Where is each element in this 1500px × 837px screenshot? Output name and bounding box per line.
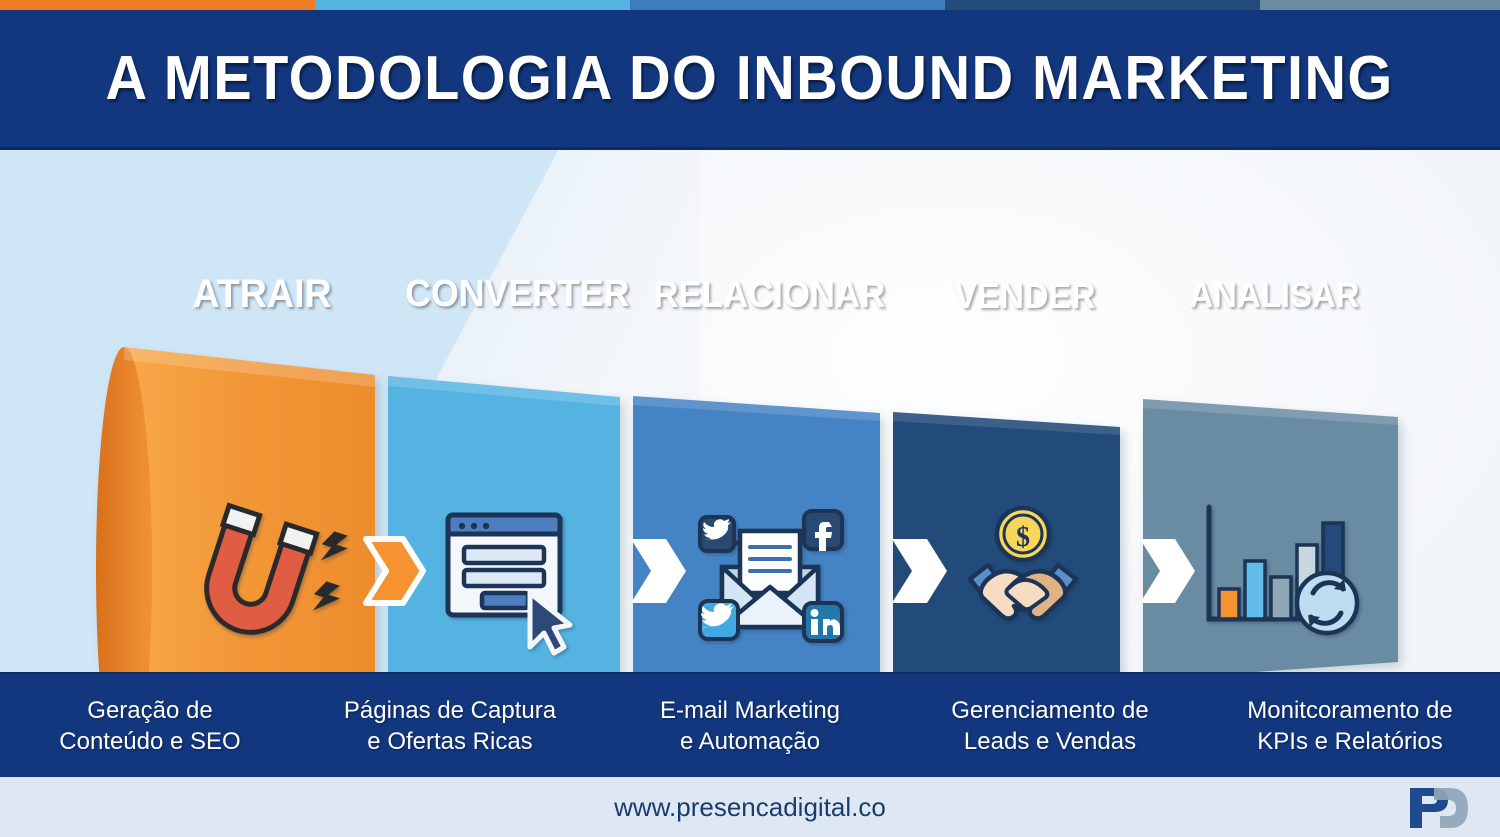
title-bar: A METODOLOGIA DO INBOUND MARKETING [0, 10, 1500, 150]
analisar-strip [1260, 0, 1500, 10]
caption-band: Geração deConteúdo e SEOPáginas de Captu… [0, 672, 1500, 781]
page-title: A METODOLOGIA DO INBOUND MARKETING [106, 43, 1394, 114]
caption-vender: Gerenciamento deLeads e Vendas [900, 696, 1200, 757]
relacionar-strip [630, 0, 945, 10]
twitter-badge-light [700, 601, 738, 639]
caption-line-1: Geração de [87, 697, 212, 724]
funnel-stage: $ [0, 147, 1500, 672]
twitter-badge-dark [700, 517, 734, 551]
website-url[interactable]: www.presencadigital.co [0, 777, 1500, 837]
infographic-root: A METODOLOGIA DO INBOUND MARKETING [0, 0, 1500, 837]
top-color-strip [0, 0, 1500, 10]
converter-strip [315, 0, 630, 10]
caption-atrair: Geração deConteúdo e SEO [0, 696, 300, 757]
caption-line-2: Leads e Vendas [904, 727, 1196, 758]
caption-relacionar: E-mail Marketinge Automação [600, 696, 900, 757]
funnel-diagram: $ [0, 147, 1500, 672]
stage-label-analisar: ANALISAR [1189, 276, 1359, 316]
presenca-digital-logo [1400, 782, 1478, 834]
stage-label-converter: CONVERTER [405, 273, 629, 316]
caption-converter: Páginas de Capturae Ofertas Ricas [300, 696, 600, 757]
vender-strip [945, 0, 1260, 10]
stage-label-relacionar: RELACIONAR [653, 274, 885, 316]
facebook-badge [804, 511, 842, 551]
coin-dollar-symbol: $ [1016, 522, 1030, 553]
linkedin-badge [804, 603, 842, 641]
stage-label-vender: VENDER [955, 275, 1096, 317]
caption-line-1: Gerenciamento de [951, 697, 1148, 724]
funnel-stage-analisar[interactable] [1143, 399, 1398, 672]
caption-line-2: e Automação [604, 727, 896, 758]
footer-bar: www.presencadigital.co [0, 777, 1500, 837]
refresh-icon [1297, 573, 1357, 633]
caption-analisar: Monitcoramento deKPIs e Relatórios [1200, 696, 1500, 757]
atrair-strip [0, 0, 315, 10]
caption-line-2: KPIs e Relatórios [1204, 727, 1496, 758]
stage-label-atrair: ATRAIR [192, 272, 331, 317]
caption-line-2: Conteúdo e SEO [4, 727, 296, 758]
caption-line-1: E-mail Marketing [660, 697, 840, 724]
caption-line-2: e Ofertas Ricas [304, 727, 596, 758]
caption-line-1: Monitcoramento de [1247, 697, 1452, 724]
caption-line-1: Páginas de Captura [344, 697, 556, 724]
